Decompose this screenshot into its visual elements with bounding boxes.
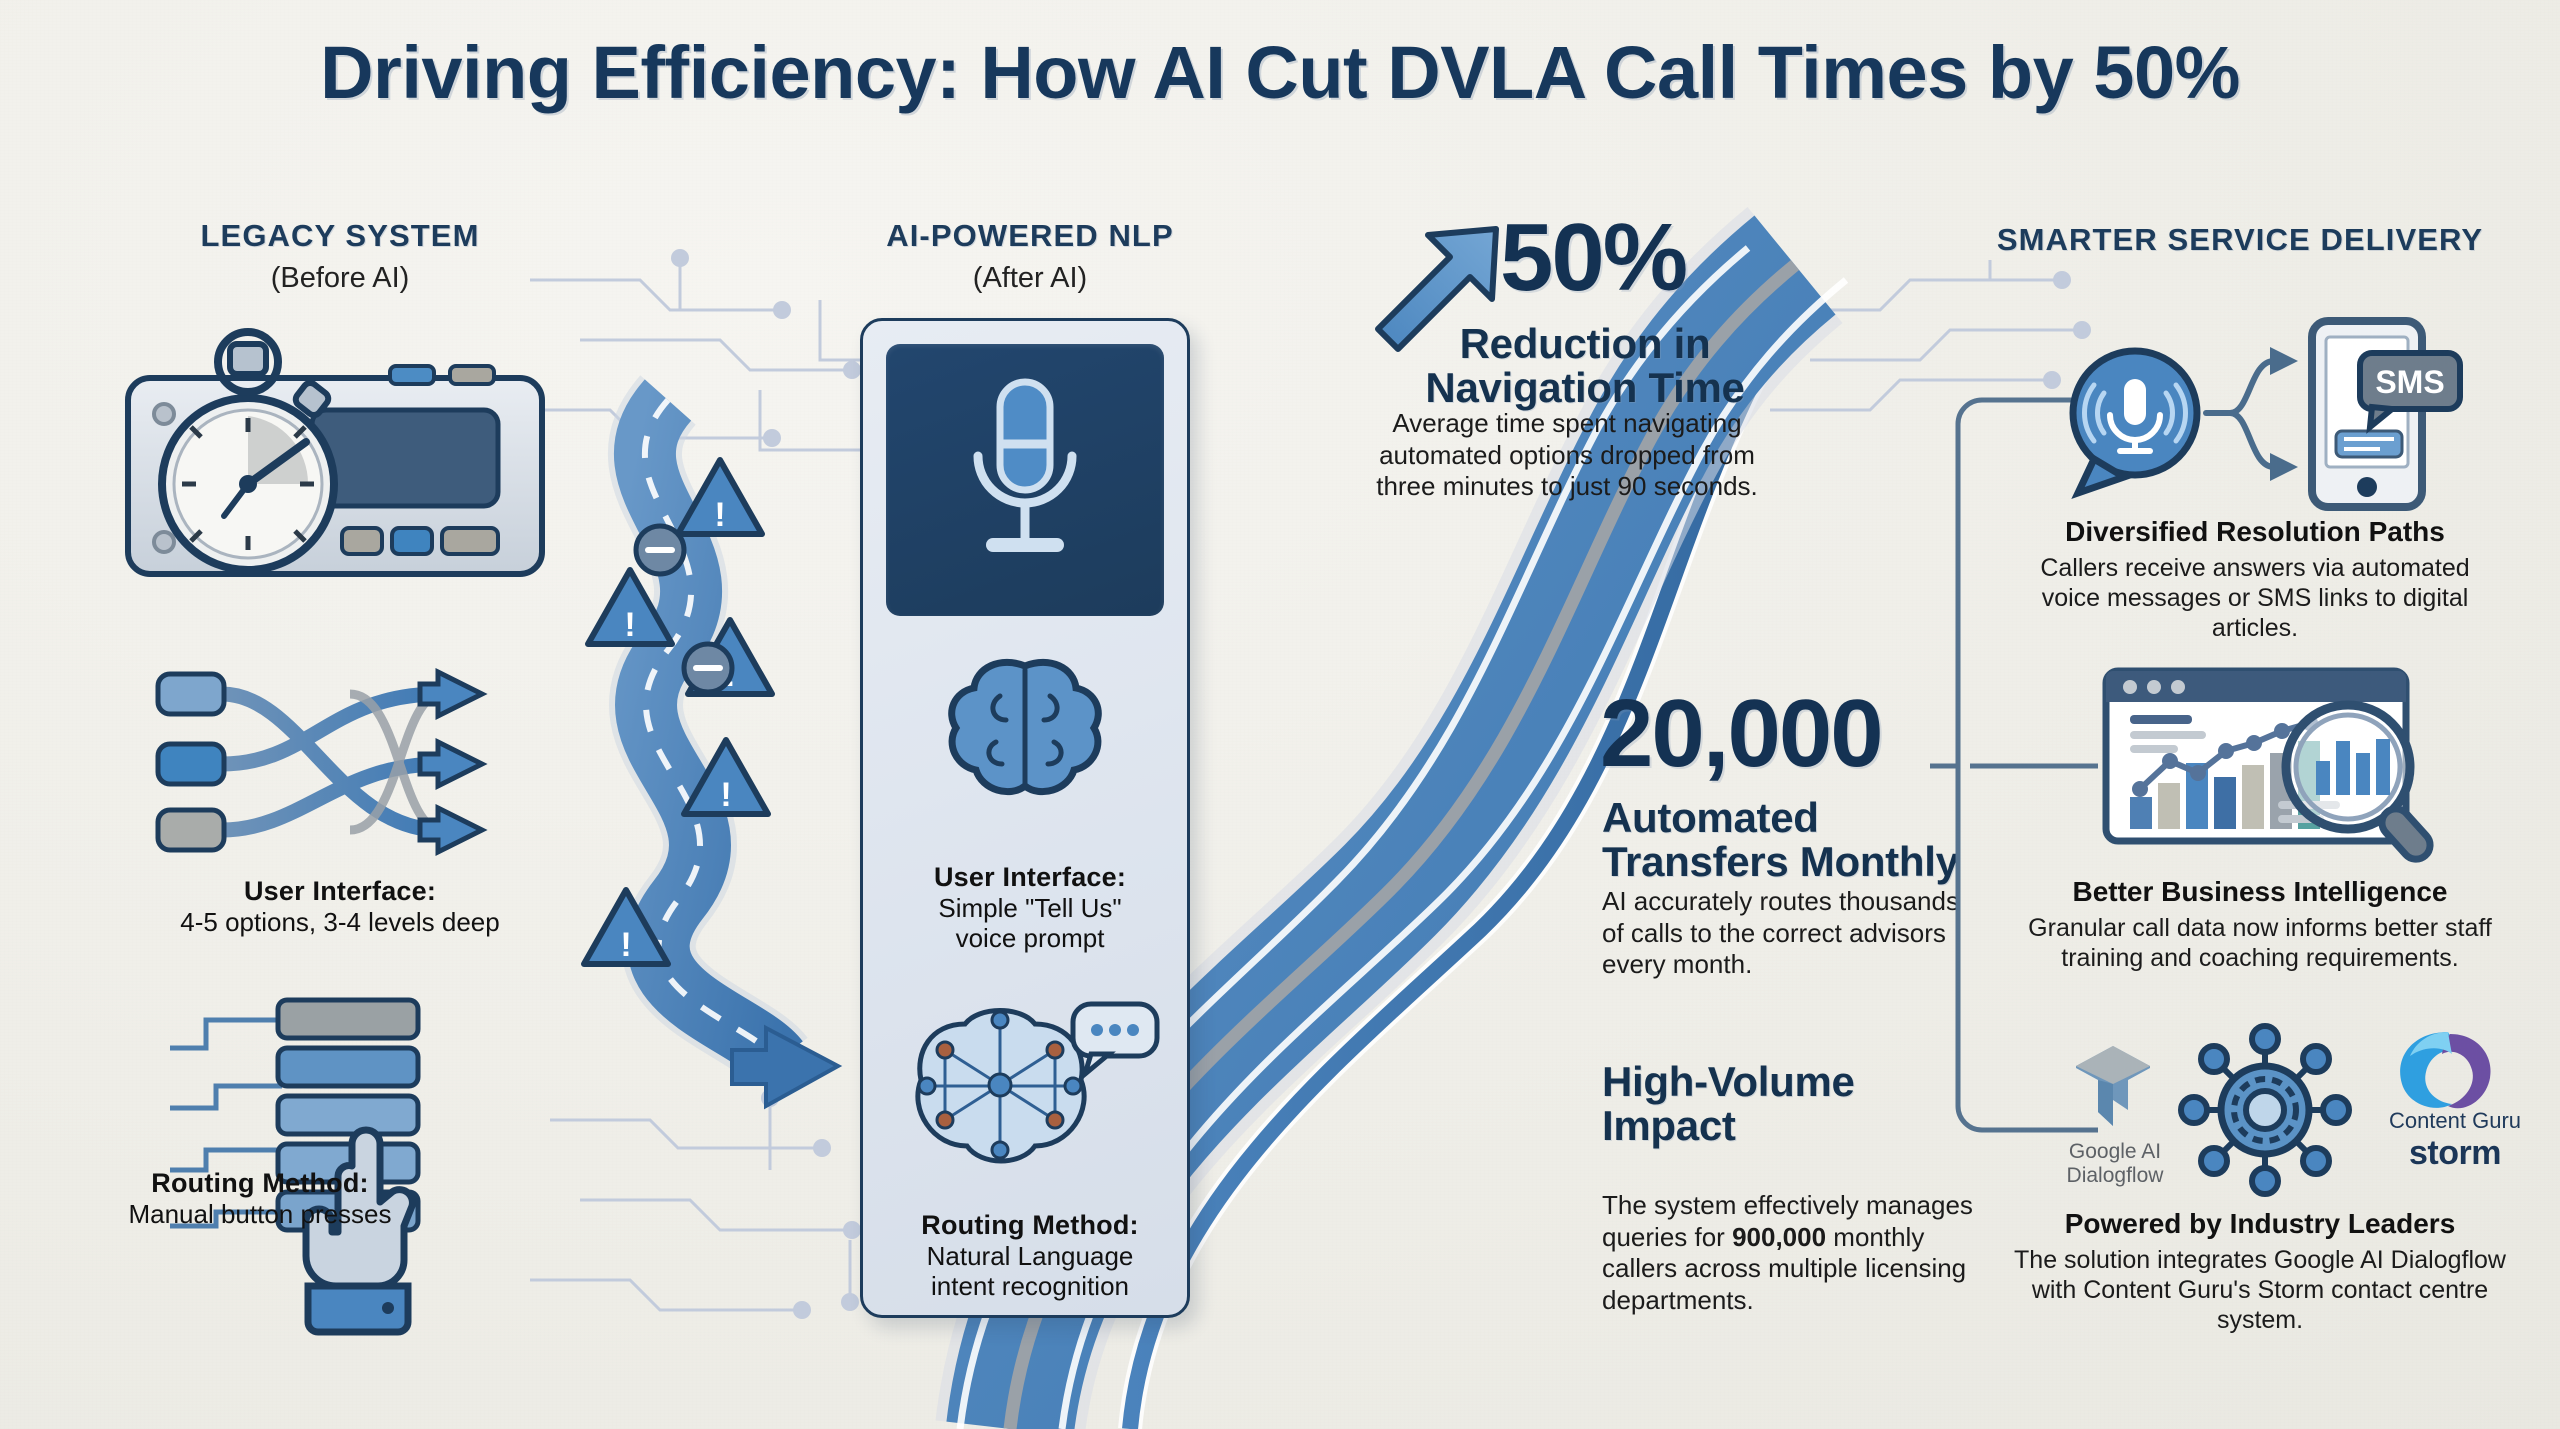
dialogflow-line2: Dialogflow	[2030, 1164, 2200, 1188]
ai-routing-value-line1: Natural Language	[880, 1241, 1180, 1271]
legacy-column-subheading: (Before AI)	[110, 262, 570, 295]
legacy-routing-label: Routing Method:	[120, 1168, 400, 1199]
right-item-2-body: Granular call data now informs better st…	[2010, 913, 2510, 973]
storm-line2: storm	[2370, 1134, 2540, 1173]
storm-line1: Content Guru	[2370, 1108, 2540, 1134]
stat-50-number: 50%	[1500, 212, 1686, 303]
stat-20000-body: AI accurately routes thousands of calls …	[1602, 886, 1982, 981]
legacy-routing-value: Manual button presses	[120, 1199, 400, 1229]
stat-50-heading: Reduction in Navigation Time	[1395, 322, 1775, 410]
analytics-dashboard-magnifier-icon	[2100, 665, 2480, 855]
svg-text:!: !	[620, 926, 631, 964]
microphone-icon	[960, 378, 1090, 584]
legacy-column-heading: LEGACY SYSTEM	[110, 218, 570, 254]
ai-routing-value-line2: intent recognition	[880, 1271, 1180, 1301]
right-item-2-title: Better Business Intelligence	[2010, 876, 2510, 908]
infographic-canvas: Driving Efficiency: How AI Cut DVLA Call…	[0, 0, 2560, 1429]
ai-routing-label: Routing Method:	[880, 1210, 1180, 1241]
ai-ui-label: User Interface:	[880, 862, 1180, 893]
right-item-3-body: The solution integrates Google AI Dialog…	[2010, 1245, 2510, 1335]
ai-ui-value-line1: Simple "Tell Us"	[880, 893, 1180, 923]
page-title: Driving Efficiency: How AI Cut DVLA Call…	[0, 30, 2560, 115]
neural-network-chat-icon	[905, 1000, 1165, 1190]
google-ai-dialogflow-caption: Google AI Dialogflow	[2030, 1140, 2200, 1188]
crossed-routing-arrows-icon	[150, 660, 530, 870]
ai-routing-caption: Routing Method: Natural Language intent …	[880, 1210, 1180, 1302]
stat-50-heading-line1: Reduction in	[1395, 322, 1775, 366]
svg-text:!: !	[720, 776, 731, 814]
svg-text:!: !	[624, 606, 635, 644]
stopwatch-console-icon	[120, 330, 560, 590]
legacy-ui-label: User Interface:	[120, 876, 560, 907]
stat-50-body: Average time spent navigating automated …	[1372, 408, 1762, 503]
legacy-column-header-group: LEGACY SYSTEM (Before AI)	[110, 218, 570, 295]
content-guru-storm-logo	[2390, 1028, 2500, 1114]
ai-ui-caption: User Interface: Simple "Tell Us" voice p…	[880, 862, 1180, 954]
legacy-routing-caption: Routing Method: Manual button presses	[120, 1168, 400, 1229]
right-item-3-title: Powered by Industry Leaders	[2010, 1208, 2510, 1240]
legacy-ui-caption: User Interface: 4-5 options, 3-4 levels …	[120, 876, 560, 937]
google-ai-dialogflow-logo	[2058, 1038, 2168, 1138]
voice-bubble-to-sms-icon: SMS	[2060, 335, 2480, 515]
svg-text:!: !	[714, 496, 725, 534]
stat-20000-value: 20,000	[1600, 688, 1882, 779]
sms-label: SMS	[2375, 364, 2444, 400]
stat-impact-body-strong: 900,000	[1732, 1222, 1826, 1252]
stat-50-heading-line2: Navigation Time	[1395, 366, 1775, 410]
stat-20000-number: 20,000	[1600, 688, 1882, 779]
dialogflow-line1: Google AI	[2030, 1140, 2200, 1164]
stat-impact-body: The system effectively manages queries f…	[1602, 1190, 2002, 1317]
legacy-ui-value: 4-5 options, 3-4 levels deep	[120, 907, 560, 937]
right-item-1-title: Diversified Resolution Paths	[2030, 516, 2480, 548]
stat-50-value: 50%	[1500, 212, 1686, 303]
gear-network-icon	[2180, 1025, 2350, 1195]
ai-ui-value-line2: voice prompt	[880, 923, 1180, 953]
right-item-3-caption: Powered by Industry Leaders The solution…	[2010, 1208, 2510, 1335]
right-item-1-caption: Diversified Resolution Paths Callers rec…	[2030, 516, 2480, 643]
right-item-1-body: Callers receive answers via automated vo…	[2030, 553, 2480, 643]
right-item-2-caption: Better Business Intelligence Granular ca…	[2010, 876, 2510, 973]
brain-icon	[940, 660, 1110, 800]
storm-caption: Content Guru storm	[2370, 1108, 2540, 1173]
